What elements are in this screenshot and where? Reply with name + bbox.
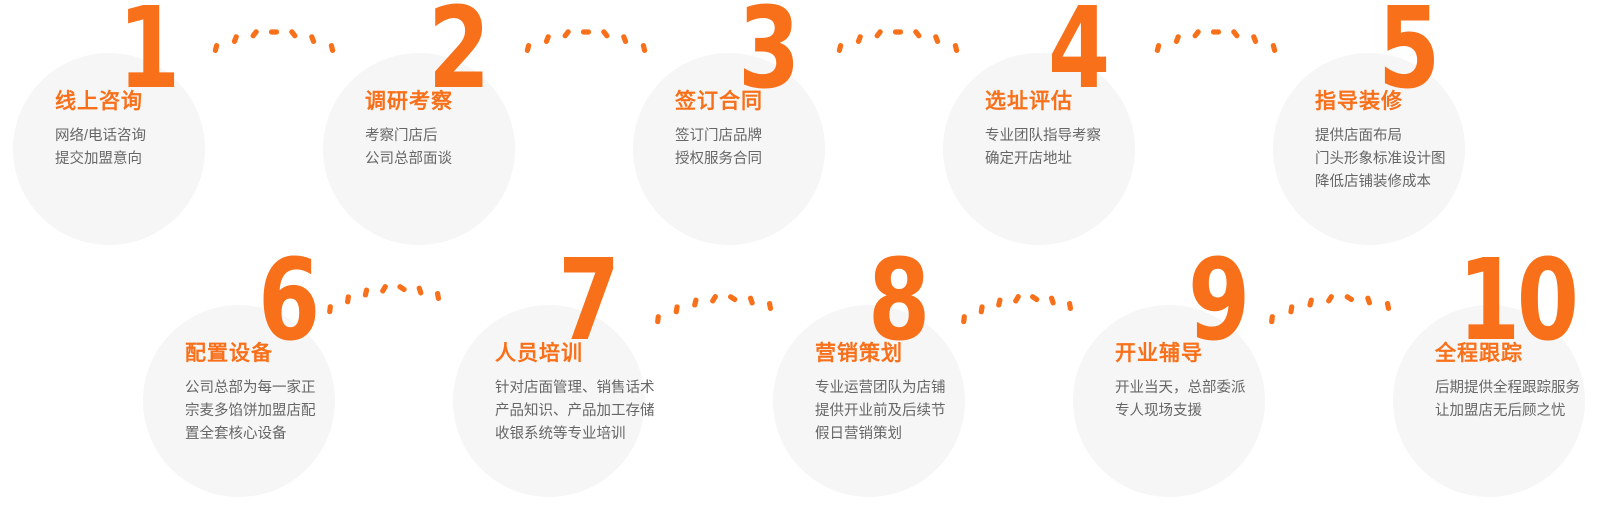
step-description: 公司总部为每一家正宗麦多馅饼加盟店配置全套核心设备 [185, 377, 415, 446]
connector-dash [581, 29, 591, 34]
step-description: 专业团队指导考察确定开店地址 [985, 125, 1215, 171]
connector-dash [1307, 297, 1315, 308]
connector-dash [1269, 314, 1275, 325]
connector-dash [855, 34, 863, 45]
step-description-line: 考察门店后 [365, 125, 595, 148]
step-description-line: 提交加盟意向 [55, 148, 285, 171]
step-title: 营销策划 [815, 342, 1045, 365]
dotted-connector-5 [330, 278, 438, 312]
connector-dash [308, 34, 316, 45]
step-text-block: 开业辅导开业当天，总部委派专人现场支援 [1115, 342, 1345, 423]
step-description-line: 公司总部为每一家正 [185, 377, 415, 400]
step-number: 3 [738, 0, 797, 104]
step-description-line: 提供开业前及后续节 [815, 400, 1045, 423]
dotted-connector-3 [840, 22, 956, 56]
franchise-process-infographic: 1线上咨询网络/电话咨询提交加盟意向2调研考察考察门店后公司总部面谈3签订合同签… [0, 0, 1606, 508]
connector-dash [747, 295, 755, 306]
connector-dash [1029, 293, 1040, 303]
step-description-line: 置全套核心设备 [185, 423, 415, 446]
connector-dash [692, 297, 700, 308]
step-description-line: 针对店面管理、销售话术 [495, 377, 725, 400]
connector-dash [288, 28, 298, 39]
dotted-connector-7 [964, 288, 1070, 322]
step-title: 配置设备 [185, 342, 415, 365]
connector-dash [1012, 293, 1021, 304]
connector-dash [1173, 34, 1181, 45]
step-description-line: 专人现场支援 [1115, 400, 1345, 423]
connector-dash [978, 304, 985, 315]
connector-dash [836, 43, 844, 54]
connector-dash [543, 34, 551, 45]
step-title: 开业辅导 [1115, 342, 1345, 365]
connector-dash [932, 34, 940, 45]
dotted-connector-1 [216, 22, 332, 56]
step-description-line: 门头形象标准设计图 [1315, 148, 1545, 171]
step-title: 选址评估 [985, 90, 1215, 113]
connector-dash [1344, 293, 1355, 303]
connector-dash [1154, 43, 1162, 54]
connector-dash [1270, 43, 1278, 54]
connector-dash [655, 314, 661, 325]
step-text-block: 指导装修提供店面布局门头形象标准设计图降低店铺装修成本 [1315, 90, 1545, 194]
connector-dash [269, 29, 279, 34]
connector-dash [562, 28, 572, 39]
connector-dash [673, 304, 680, 315]
step-description-line: 提供店面布局 [1315, 125, 1545, 148]
connector-dash [874, 28, 884, 39]
connector-dash [1365, 295, 1373, 306]
step-number: 6 [258, 244, 317, 356]
connector-dash [231, 34, 239, 45]
connector-dash [1325, 293, 1335, 304]
connector-dash [1211, 29, 1221, 34]
connector-dash [362, 287, 369, 298]
connector-dash [435, 291, 442, 302]
step-text-block: 选址评估专业团队指导考察确定开店地址 [985, 90, 1215, 171]
step-description-line: 宗麦多馅饼加盟店配 [185, 400, 415, 423]
connector-dash [1384, 301, 1391, 312]
connector-dash [1288, 304, 1295, 315]
step-description-line: 降低店铺装修成本 [1315, 171, 1545, 194]
connector-dash [379, 283, 389, 294]
step-number: 10 [1458, 244, 1576, 356]
step-text-block: 人员培训针对店面管理、销售话术产品知识、产品加工存储收银系统等专业培训 [495, 342, 725, 446]
connector-dash [709, 293, 719, 304]
step-title: 调研考察 [365, 90, 595, 113]
step-number: 2 [428, 0, 487, 104]
connector-dash [1192, 28, 1202, 39]
dotted-connector-8 [1272, 288, 1388, 322]
connector-dash [1250, 34, 1258, 45]
step-description-line: 签订门店品牌 [675, 125, 905, 148]
step-number: 9 [1188, 244, 1247, 356]
step-title: 人员培训 [495, 342, 725, 365]
step-description-line: 收银系统等专业培训 [495, 423, 725, 446]
step-title: 线上咨询 [55, 90, 285, 113]
step-title: 全程跟踪 [1435, 342, 1606, 365]
connector-dash [416, 285, 424, 296]
step-number: 1 [118, 0, 177, 104]
connector-dash [620, 34, 628, 45]
step-description-line: 授权服务合同 [675, 148, 905, 171]
step-text-block: 营销策划专业运营团队为店铺提供开业前及后续节假日营销策划 [815, 342, 1045, 446]
step-description-line: 网络/电话咨询 [55, 125, 285, 148]
step-number: 7 [558, 244, 617, 356]
connector-dash [600, 28, 610, 39]
connector-dash [396, 283, 407, 293]
connector-dash [640, 43, 648, 54]
step-description-line: 专业团队指导考察 [985, 125, 1215, 148]
connector-dash [345, 294, 352, 305]
step-text-block: 调研考察考察门店后公司总部面谈 [365, 90, 595, 171]
connector-dash [212, 43, 220, 54]
step-description: 专业运营团队为店铺提供开业前及后续节假日营销策划 [815, 377, 1045, 446]
step-description-line: 公司总部面谈 [365, 148, 595, 171]
step-description-line: 开业当天，总部委派 [1115, 377, 1345, 400]
step-text-block: 签订合同签订门店品牌授权服务合同 [675, 90, 905, 171]
step-number: 8 [868, 244, 927, 356]
step-description: 考察门店后公司总部面谈 [365, 125, 595, 171]
connector-dash [912, 28, 922, 39]
step-description-line: 后期提供全程跟踪服务 [1435, 377, 1606, 400]
step-title: 签订合同 [675, 90, 905, 113]
dotted-connector-6 [658, 288, 770, 322]
connector-dash [952, 43, 960, 54]
connector-dash [328, 43, 336, 54]
step-description-line: 专业运营团队为店铺 [815, 377, 1045, 400]
step-description-line: 让加盟店无后顾之忧 [1435, 400, 1606, 423]
connector-dash [1048, 295, 1056, 306]
step-number: 4 [1048, 0, 1107, 104]
step-description-line: 产品知识、产品加工存储 [495, 400, 725, 423]
dotted-connector-4 [1158, 22, 1274, 56]
step-title: 指导装修 [1315, 90, 1545, 113]
connector-dash [524, 43, 532, 54]
connector-dash [727, 293, 738, 303]
step-number: 5 [1378, 0, 1437, 104]
step-description: 提供店面布局门头形象标准设计图降低店铺装修成本 [1315, 125, 1545, 194]
step-text-block: 全程跟踪后期提供全程跟踪服务让加盟店无后顾之忧 [1435, 342, 1606, 423]
step-description: 后期提供全程跟踪服务让加盟店无后顾之忧 [1435, 377, 1606, 423]
step-description: 签订门店品牌授权服务合同 [675, 125, 905, 171]
step-description-line: 确定开店地址 [985, 148, 1215, 171]
step-description: 网络/电话咨询提交加盟意向 [55, 125, 285, 171]
connector-dash [893, 29, 903, 34]
connector-dash [250, 28, 260, 39]
connector-dash [996, 297, 1003, 308]
step-description-line: 假日营销策划 [815, 423, 1045, 446]
step-description: 针对店面管理、销售话术产品知识、产品加工存储收银系统等专业培训 [495, 377, 725, 446]
step-text-block: 配置设备公司总部为每一家正宗麦多馅饼加盟店配置全套核心设备 [185, 342, 415, 446]
dotted-connector-2 [528, 22, 644, 56]
step-text-block: 线上咨询网络/电话咨询提交加盟意向 [55, 90, 285, 171]
connector-dash [1230, 28, 1240, 39]
step-description: 开业当天，总部委派专人现场支援 [1115, 377, 1345, 423]
